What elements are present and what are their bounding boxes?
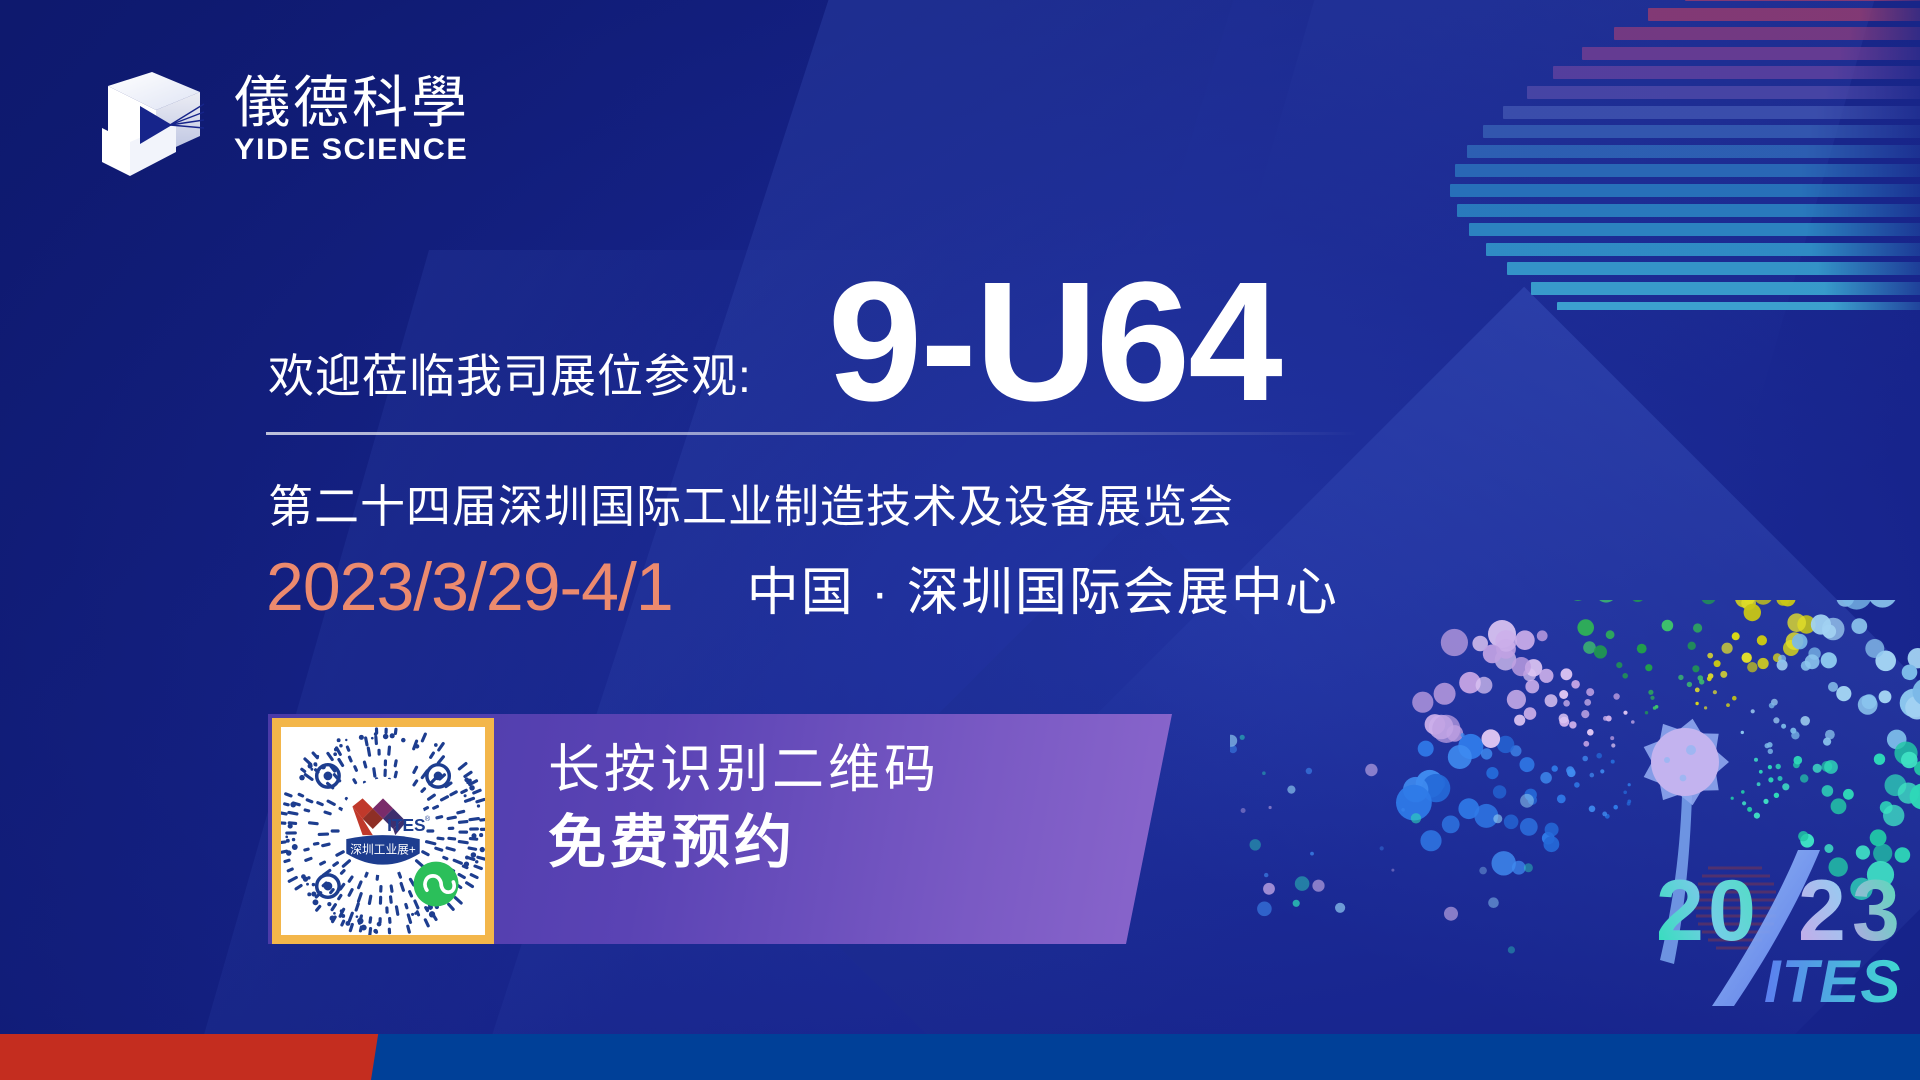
cta-text: 长按识别二维码 免费预约 [548,740,940,878]
ites-year-digit-2b: 2 [1798,863,1846,959]
arc-stripe [1648,8,1920,21]
ites-year-digit-3: 3 [1852,863,1900,959]
arc-stripe [1503,106,1920,119]
arc-stripe [1450,184,1920,197]
arc-stripe [1467,145,1920,158]
arc-stripe [1614,27,1920,40]
ites-2023-logo: 2 0 2 3 ITES [1630,850,1920,1020]
arc-stripes-icon [1430,0,1920,310]
ites-year-digit-0: 0 [1708,863,1756,959]
company-name-cn: 儀德科學 [234,74,470,131]
arc-stripe [1483,125,1920,138]
bottom-bar-red [0,1034,400,1080]
arc-stripe [1557,302,1920,310]
booth-number: 9-U64 [828,264,1281,420]
cta-line-2: 免费预约 [548,809,940,877]
qr-code-card[interactable]: ITES®深圳工业展+ [272,718,494,944]
arc-stripe [1486,243,1920,256]
bottom-bar [0,1034,1920,1080]
booth-row: 欢迎莅临我司展位参观: 9-U64 [268,250,1398,420]
arc-stripe [1527,86,1920,99]
yide-arrow-mark-icon [100,70,212,178]
qr-code-icon: ITES®深圳工业展+ [281,727,485,935]
arc-stripe [1469,223,1920,236]
expo-date-venue-row: 2023/3/29-4/1 中国 · 深圳国际会展中心 [266,548,1339,626]
cta-line-1: 长按识别二维码 [548,740,940,801]
svg-text:深圳工业展+: 深圳工业展+ [350,842,416,856]
arc-stripe [1685,0,1920,1]
svg-text:ITES: ITES [387,815,426,835]
expo-date: 2023/3/29-4/1 [266,548,673,626]
arc-stripe [1507,262,1920,275]
arc-stripe [1531,282,1920,295]
arc-stripe [1553,66,1920,79]
arc-stripe [1457,204,1920,217]
company-name-en: YIDE SCIENCE [234,133,475,166]
svg-text:®: ® [425,815,431,823]
exhibition-invitation-banner: 儀德科學 YIDE SCIENCE 欢迎莅临我司展位参观: 9-U64 第二十四… [0,0,1920,1080]
ites-wordmark: ITES [1764,948,1901,1015]
ites-year-digit-2: 2 [1656,863,1704,959]
arc-stripe [1582,47,1920,60]
expo-title: 第二十四届深圳国际工业制造技术及设备展览会 [268,470,1234,535]
bottom-bar-blue [371,1034,1920,1080]
welcome-label: 欢迎莅临我司展位参观: [268,340,752,420]
arc-stripe [1455,164,1920,177]
divider [266,432,1358,435]
company-logo: 儀德科學 YIDE SCIENCE [100,70,470,178]
qr-code[interactable]: ITES®深圳工业展+ [281,727,485,935]
